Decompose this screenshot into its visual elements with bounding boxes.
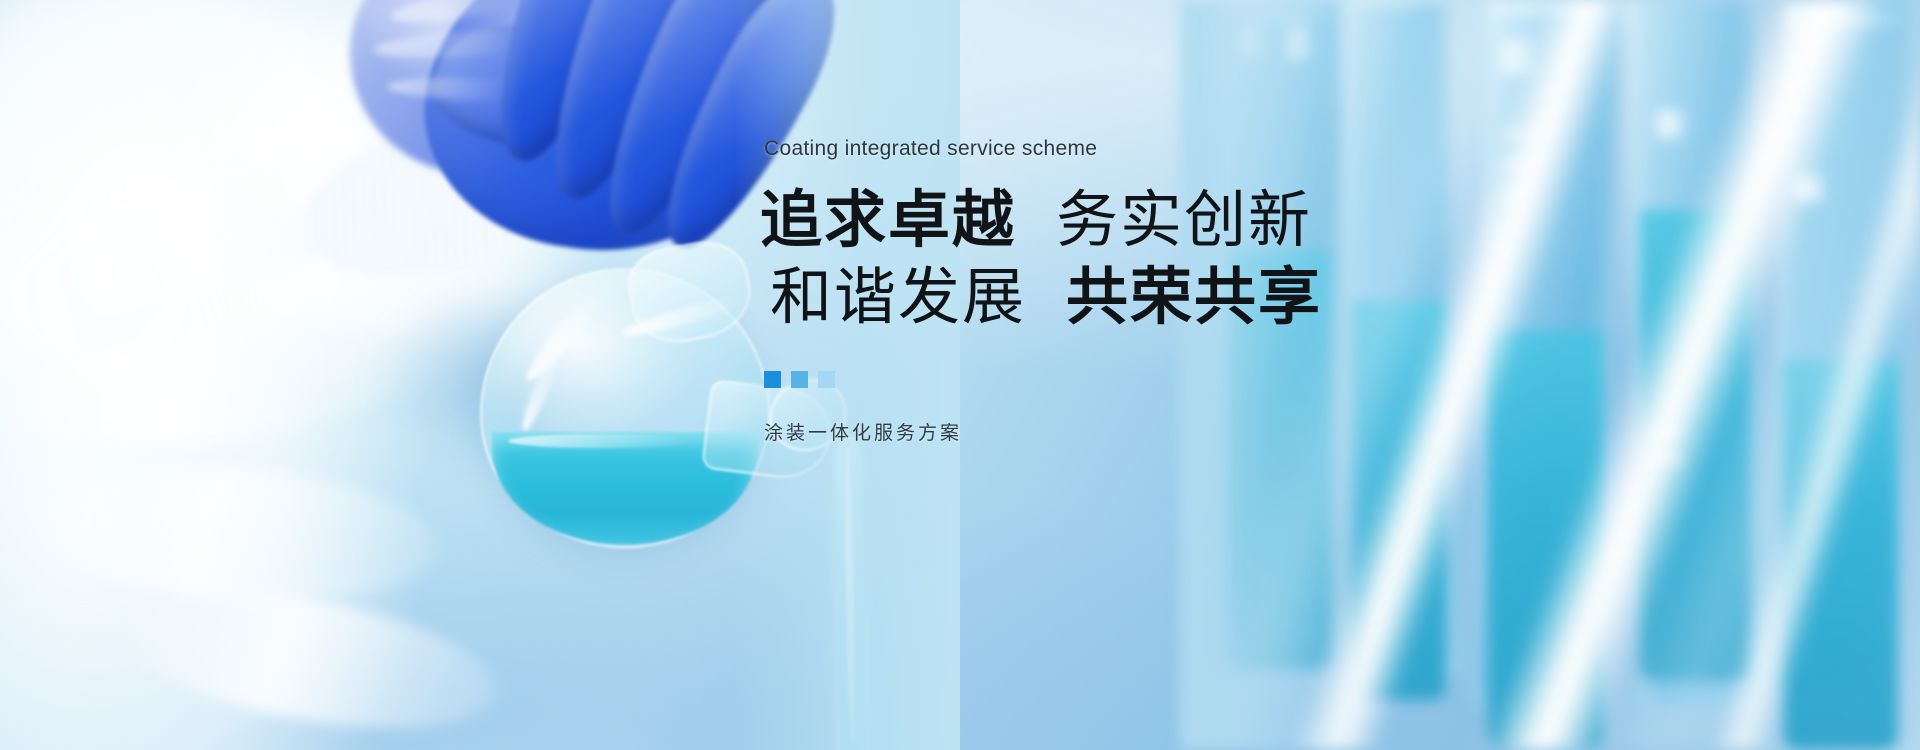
slide-dot-3[interactable] — [818, 371, 835, 388]
banner-text-block: Coating integrated service scheme 追求卓越 务… — [760, 138, 1660, 445]
tube-label — [1288, 26, 1310, 60]
stream-core — [835, 434, 867, 750]
slide-dot-1[interactable] — [764, 371, 781, 388]
stream-highlight — [843, 445, 856, 747]
eyebrow-text: Coating integrated service scheme — [764, 138, 1660, 159]
headline-line2-left: 和谐发展 — [770, 266, 1026, 329]
hero-banner: Coating integrated service scheme 追求卓越 务… — [0, 0, 1920, 750]
headline-line-1: 追求卓越 务实创新 — [760, 189, 1660, 252]
secondary-liquid-arc — [935, 611, 960, 750]
pouring-liquid-stream — [820, 436, 890, 750]
tube-label — [1238, 24, 1264, 58]
headline-line2-right: 共荣共享 — [1066, 266, 1322, 329]
headline-line1-left: 追求卓越 — [760, 189, 1016, 252]
slide-indicators[interactable] — [764, 371, 1660, 388]
headline-line1-right: 务实创新 — [1056, 189, 1312, 252]
slide-dot-2[interactable] — [791, 371, 808, 388]
tube-label — [1658, 110, 1684, 138]
tube-rim — [1224, 8, 1336, 20]
page-title: 追求卓越 务实创新 和谐发展 共荣共享 — [760, 189, 1660, 329]
headline-line-2: 和谐发展 共荣共享 — [770, 266, 1660, 329]
banner-caption: 涂装一体化服务方案 — [764, 418, 1660, 445]
